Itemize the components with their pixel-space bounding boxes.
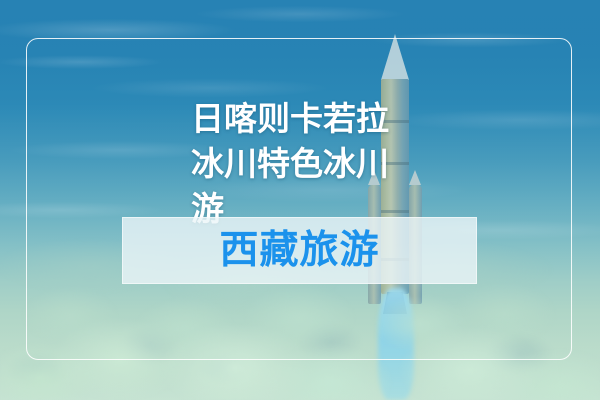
- travel-poster: 日喀则卡若拉冰川特色冰川游 西藏旅游: [0, 0, 600, 400]
- banner-label: 西藏旅游: [219, 231, 379, 270]
- banner-bar: 西藏旅游: [122, 217, 477, 284]
- page-title: 日喀则卡若拉冰川特色冰川游: [191, 96, 421, 231]
